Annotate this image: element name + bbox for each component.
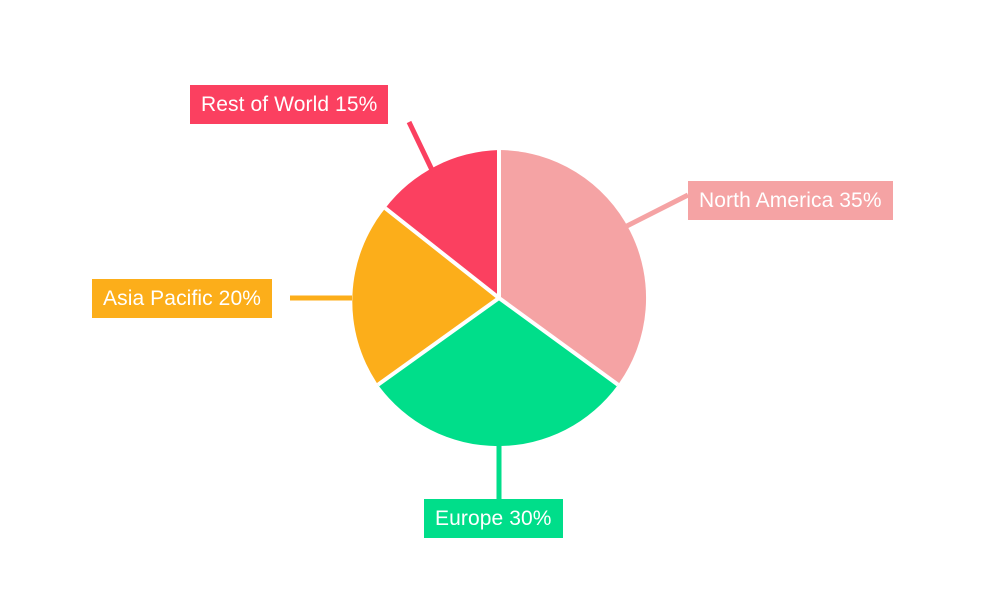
pie-label-north-america[interactable]: North America 35% bbox=[688, 181, 893, 220]
pie-label-rest-of-world[interactable]: Rest of World 15% bbox=[190, 85, 388, 124]
pie-chart-figure: North America 35% Europe 30% Asia Pacifi… bbox=[0, 0, 1000, 600]
leader-line-rest-of-world bbox=[409, 122, 432, 170]
pie-label-europe[interactable]: Europe 30% bbox=[424, 499, 563, 538]
leader-line-north-america bbox=[617, 195, 688, 231]
pie-label-asia-pacific[interactable]: Asia Pacific 20% bbox=[92, 279, 272, 318]
